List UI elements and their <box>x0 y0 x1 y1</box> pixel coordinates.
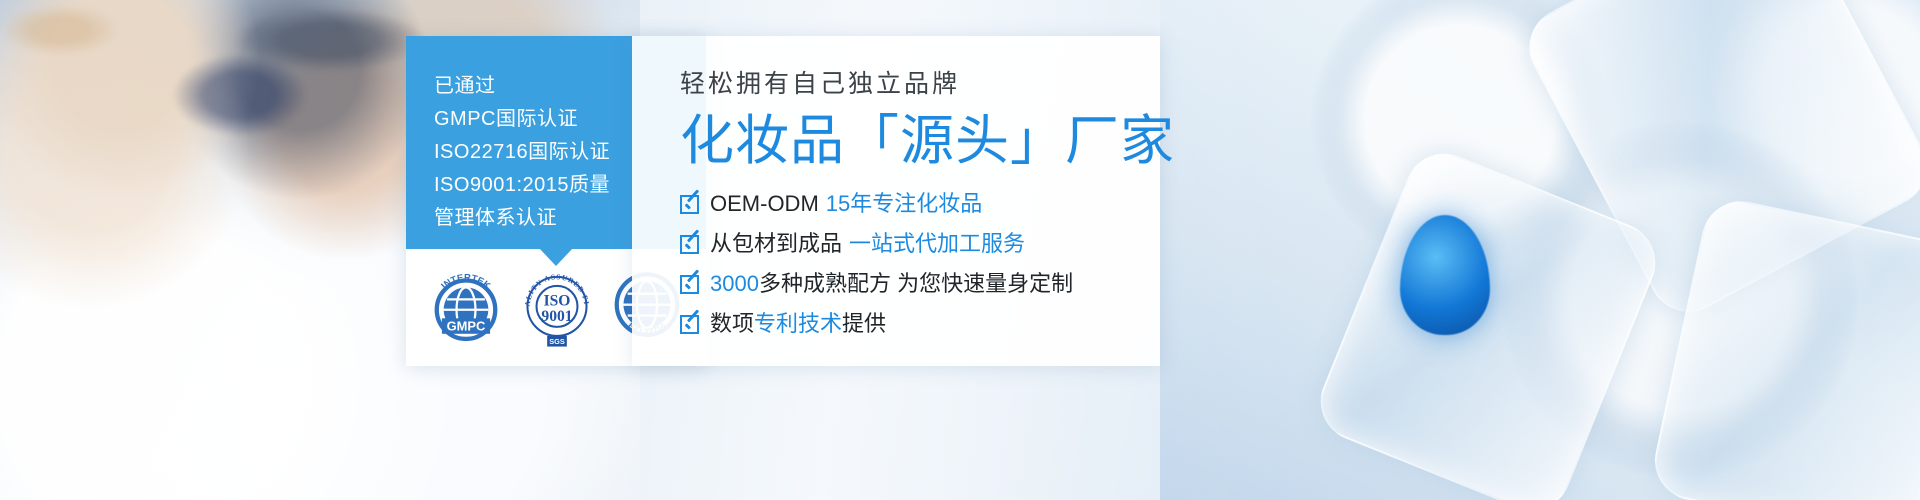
feature-3-blue: 3000 <box>710 271 759 296</box>
card-pointer-arrow <box>539 248 573 266</box>
svg-text:ISO: ISO <box>544 292 571 309</box>
checkmark-icon <box>680 275 699 294</box>
svg-text:SGS: SGS <box>549 337 565 346</box>
feature-item-4: 数项专利技术提供 <box>680 313 1160 335</box>
promo-banner: 已通过 GMPC国际认证 ISO22716国际认证 ISO9001:2015质量… <box>0 0 1920 500</box>
feature-4-dark2: 提供 <box>842 311 886 336</box>
feature-3-dark2: 多种成熟配方 为您快速量身定制 <box>759 271 1073 296</box>
feature-4-blue: 专利技术 <box>754 311 842 336</box>
feature-1-blue: 15年专注化妆品 <box>826 191 982 216</box>
svg-text:9001: 9001 <box>541 308 572 325</box>
feature-item-2: 从包材到成品一站式代加工服务 <box>680 233 1160 255</box>
iso-9001-logo: QUALITY ASSURED FIRM ISO 9001 SGS <box>516 265 598 351</box>
feature-4-dark: 数项 <box>710 311 754 336</box>
intertek-gmpc-logo: INTERTEK GMPC <box>423 265 509 351</box>
feature-1-dark: OEM-ODM <box>710 191 819 216</box>
feature-item-1: OEM-ODM15年专注化妆品 <box>680 193 1160 215</box>
checkmark-icon <box>680 195 699 214</box>
feature-list: OEM-ODM15年专注化妆品 从包材到成品一站式代加工服务 3000多种成熟配… <box>680 193 1160 335</box>
glassware-photo <box>1160 0 1920 500</box>
checkmark-icon <box>680 235 699 254</box>
feature-2-blue: 一站式代加工服务 <box>849 231 1025 256</box>
checkmark-icon <box>680 315 699 334</box>
headline-text: 化妆品「源头」厂家 <box>680 111 1160 171</box>
main-content-panel: 轻松拥有自己独立品牌 化妆品「源头」厂家 OEM-ODM15年专注化妆品 从包材… <box>632 36 1160 366</box>
feature-item-3: 3000多种成熟配方 为您快速量身定制 <box>680 273 1160 295</box>
svg-text:GMPC: GMPC <box>447 318 486 333</box>
eyebrow-text: 轻松拥有自己独立品牌 <box>680 72 1160 97</box>
feature-2-dark: 从包材到成品 <box>710 231 842 256</box>
